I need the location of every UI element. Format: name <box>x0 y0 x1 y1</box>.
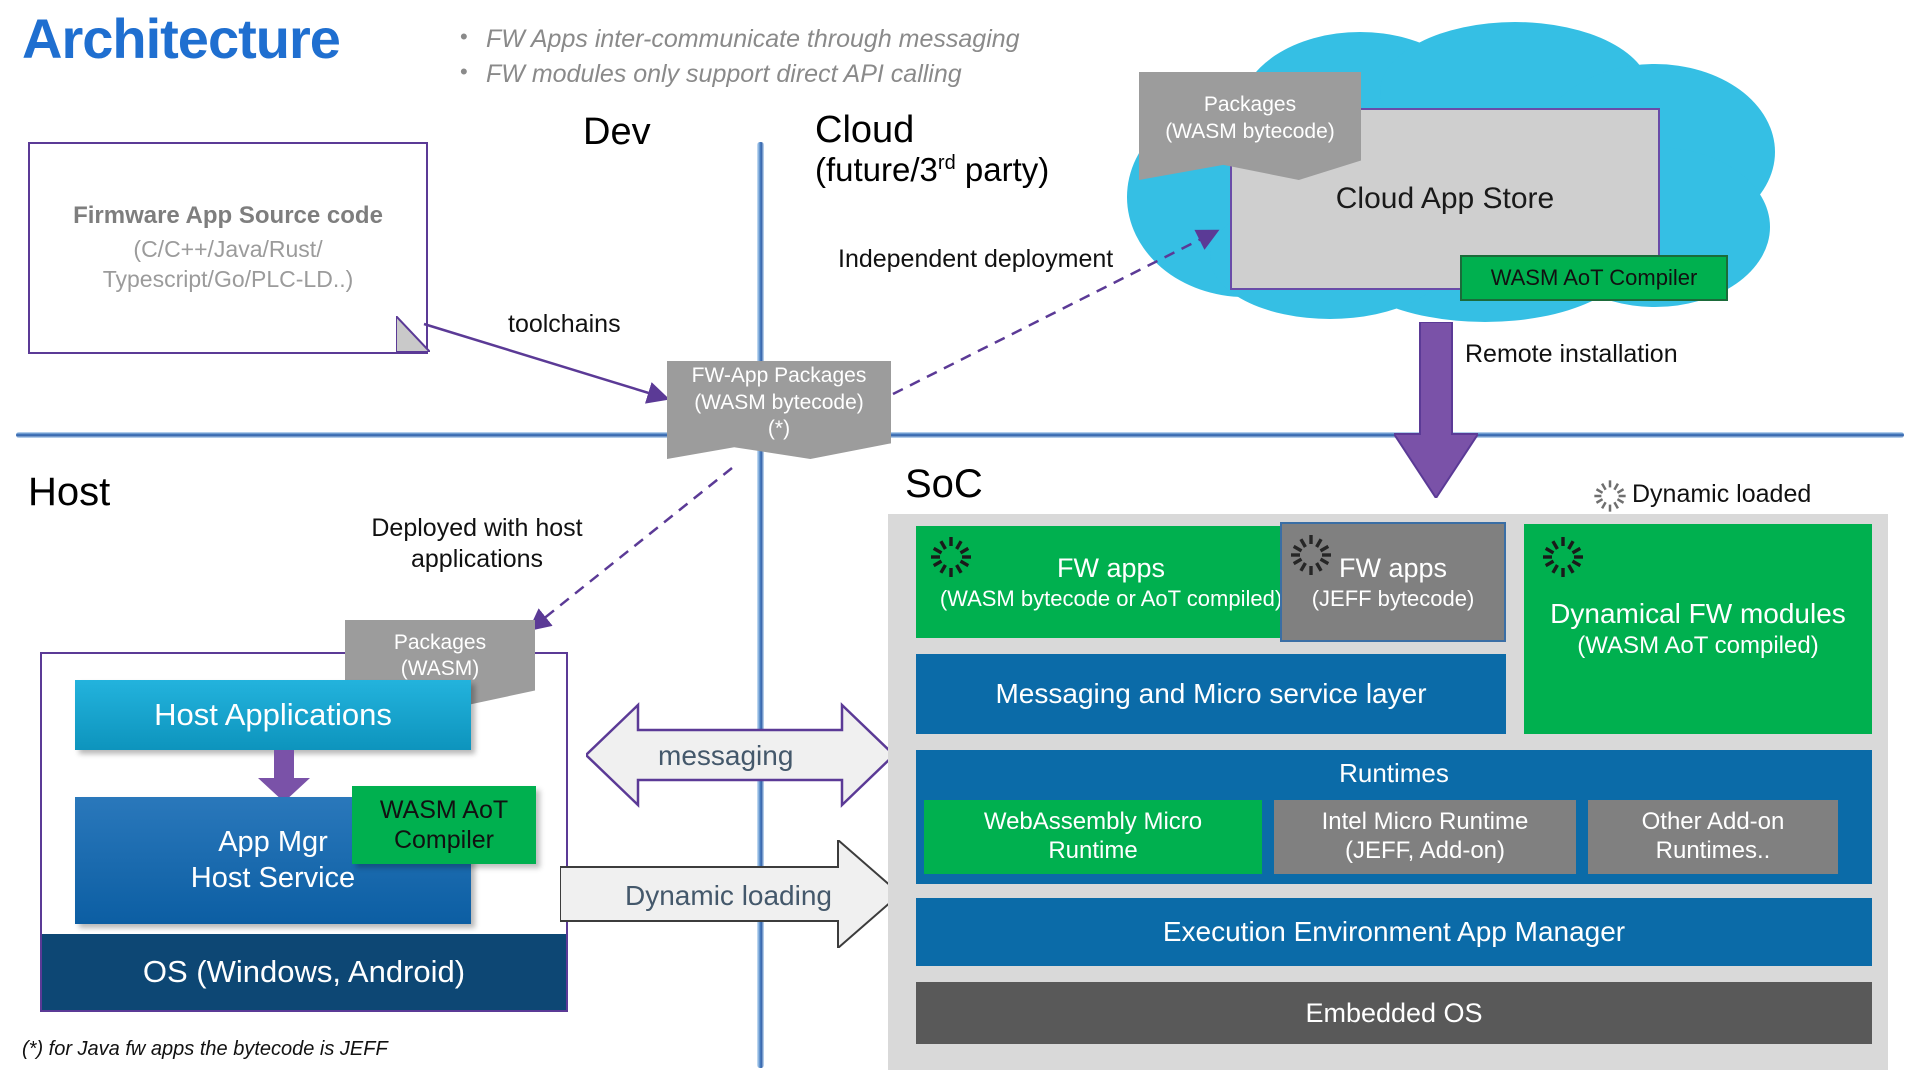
cloud-wasm-aot-compiler-box: WASM AoT Compiler <box>1460 255 1728 301</box>
list-item: • FW modules only support direct API cal… <box>460 57 1140 92</box>
fw-apps-wasm-spinner-icon <box>928 534 974 580</box>
cloud-app-store-label: Cloud App Store <box>1336 182 1554 216</box>
cloud-packages-line2: (WASM bytecode) <box>1165 118 1335 145</box>
deployed-with-host-arrow <box>520 462 740 640</box>
bullet-text: FW Apps inter-communicate through messag… <box>486 22 1020 57</box>
firmware-source-title: Firmware App Source code <box>73 202 383 230</box>
independent-deployment-arrow <box>885 222 1235 402</box>
list-item: • FW Apps inter-communicate through mess… <box>460 22 1140 57</box>
toolchains-label: toolchains <box>508 310 621 339</box>
fw-apps-jeff-spinner-icon <box>1288 532 1334 578</box>
footnote: (*) for Java fw apps the bytecode is JEF… <box>22 1038 388 1061</box>
fw-apps-wasm-sub: (WASM bytecode or AoT compiled) <box>940 586 1282 612</box>
section-label-dev: Dev <box>583 112 651 154</box>
bullet-dot-icon: • <box>460 22 486 52</box>
runtime-2-line1: Other Add-on <box>1642 808 1785 835</box>
section-label-host: Host <box>28 470 110 514</box>
messaging-label: messaging <box>658 740 793 772</box>
app-mgr-line1: App Mgr <box>218 826 328 858</box>
page-title: Architecture <box>22 6 340 71</box>
messaging-micro-service-layer-box: Messaging and Micro service layer <box>916 654 1506 734</box>
bullet-text: FW modules only support direct API calli… <box>486 57 962 92</box>
fw-apps-jeff-title: FW apps <box>1339 553 1447 584</box>
runtime-0-line2: Runtime <box>1048 837 1137 864</box>
section-label-cloud: Cloud (future/3rd party) <box>815 110 1049 188</box>
dynamical-fw-modules-spinner-icon <box>1540 534 1586 580</box>
execution-environment-app-manager-box: Execution Environment App Manager <box>916 898 1872 966</box>
fw-apps-wasm-title: FW apps <box>1057 553 1165 584</box>
runtime-1-line1: Intel Micro Runtime <box>1322 808 1529 835</box>
runtime-intel-micro-box: Intel Micro Runtime (JEFF, Add-on) <box>1274 800 1576 874</box>
runtime-1-line2: (JEFF, Add-on) <box>1345 837 1505 864</box>
bullet-dot-icon: • <box>460 57 486 87</box>
cloud-packages-line1: Packages <box>1204 91 1296 118</box>
host-wasm-aot-line2: Compiler <box>394 826 494 854</box>
runtimes-title: Runtimes <box>916 758 1872 789</box>
host-packages-line2: (WASM) <box>401 656 480 682</box>
host-wasm-aot-compiler-box: WASM AoT Compiler <box>352 786 536 864</box>
dynamical-fw-modules-title: Dynamical FW modules <box>1550 598 1846 630</box>
execution-environment-app-manager-label: Execution Environment App Manager <box>1163 916 1625 948</box>
runtime-2-line2: Runtimes.. <box>1656 837 1771 864</box>
bullet-list: • FW Apps inter-communicate through mess… <box>460 22 1140 91</box>
fw-apps-wasm-box: FW apps (WASM bytecode or AoT compiled) <box>916 526 1306 638</box>
fw-app-packages-line3: (*) <box>768 416 790 442</box>
section-label-cloud-sub: (future/3rd party) <box>815 152 1049 188</box>
app-mgr-line2: Host Service <box>191 862 355 894</box>
runtime-0-line1: WebAssembly Micro <box>984 808 1202 835</box>
cloud-wasm-aot-compiler-label: WASM AoT Compiler <box>1491 265 1698 291</box>
host-wasm-aot-line1: WASM AoT <box>380 796 508 824</box>
runtime-webassembly-micro-box: WebAssembly Micro Runtime <box>924 800 1262 874</box>
horizontal-divider <box>16 432 1904 438</box>
fw-app-packages-line2: (WASM bytecode) <box>694 390 864 416</box>
fw-app-packages-callout: FW-App Packages (WASM bytecode) (*) <box>667 361 891 459</box>
host-down-arrow-icon <box>258 750 310 802</box>
section-label-cloud-main: Cloud <box>815 110 1049 152</box>
messaging-micro-service-layer-label: Messaging and Micro service layer <box>995 678 1426 710</box>
embedded-os-label: Embedded OS <box>1305 998 1482 1029</box>
dynamic-loading-label: Dynamic loading <box>625 880 832 912</box>
host-packages-line1: Packages <box>394 630 486 656</box>
dynamic-loaded-legend-label: Dynamic loaded <box>1632 480 1811 509</box>
fw-apps-jeff-sub: (JEFF bytecode) <box>1312 586 1475 612</box>
host-os-box: OS (Windows, Android) <box>42 934 566 1010</box>
remote-installation-label: Remote installation <box>1465 340 1678 369</box>
section-label-soc: SoC <box>905 462 983 506</box>
runtime-other-addon-box: Other Add-on Runtimes.. <box>1588 800 1838 874</box>
runtimes-container: Runtimes WebAssembly Micro Runtime Intel… <box>916 750 1872 884</box>
fw-app-packages-line1: FW-App Packages <box>692 363 867 389</box>
host-applications-label: Host Applications <box>154 697 392 733</box>
dynamic-loaded-spinner-icon <box>1592 478 1628 514</box>
host-os-label: OS (Windows, Android) <box>143 954 465 990</box>
dynamical-fw-modules-sub: (WASM AoT compiled) <box>1577 632 1818 660</box>
firmware-source-languages: (C/C++/Java/Rust/ Typescript/Go/PLC-LD..… <box>103 234 354 295</box>
cloud-packages-callout: Packages (WASM bytecode) <box>1139 72 1361 180</box>
embedded-os-box: Embedded OS <box>916 982 1872 1044</box>
firmware-source-box: Firmware App Source code (C/C++/Java/Rus… <box>28 142 428 354</box>
host-applications-box: Host Applications <box>75 680 471 750</box>
